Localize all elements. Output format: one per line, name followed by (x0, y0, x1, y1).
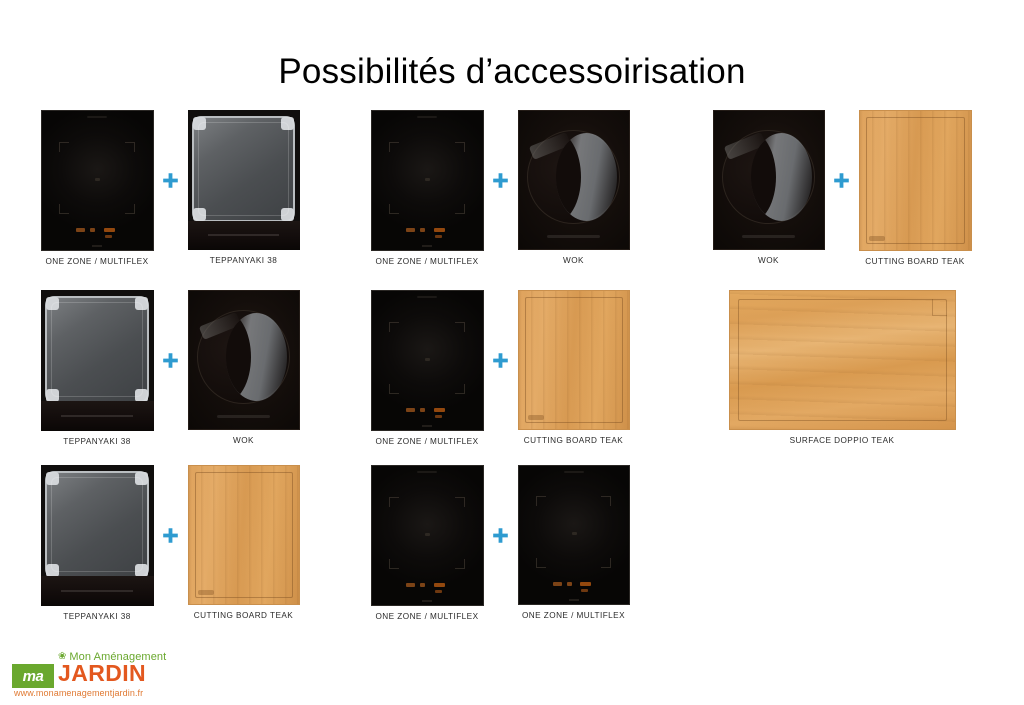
teppanyaki-image (188, 110, 300, 250)
product-item[interactable]: TEPPANYAKI 38 (41, 465, 154, 621)
logo-monogram-mark: ma (12, 664, 54, 688)
wok-image (713, 110, 825, 250)
product-item[interactable]: ONE ZONE / MULTIFLEX (371, 465, 484, 621)
combination-group[interactable]: SURFACE DOPPIO TEAK (660, 290, 1024, 445)
product-label: WOK (758, 256, 779, 265)
logo-monogram-text: ma (23, 669, 44, 684)
product-item[interactable]: WOK (713, 110, 825, 265)
plus-icon (154, 110, 188, 250)
product-item[interactable]: WOK (188, 290, 300, 445)
product-label: ONE ZONE / MULTIFLEX (375, 257, 478, 266)
cooktop-image (371, 465, 484, 606)
product-item[interactable]: ONE ZONE / MULTIFLEX (518, 465, 630, 620)
product-item[interactable]: ONE ZONE / MULTIFLEX (371, 110, 484, 266)
product-label: ONE ZONE / MULTIFLEX (522, 611, 625, 620)
product-item[interactable]: CUTTING BOARD TEAK (188, 465, 300, 620)
product-item[interactable]: TEPPANYAKI 38 (188, 110, 300, 265)
product-label: ONE ZONE / MULTIFLEX (375, 612, 478, 621)
logo-url[interactable]: www.monamenagementjardin.fr (14, 688, 143, 698)
combination-group[interactable]: ONE ZONE / MULTIFLEX ONE ZONE / MULTIFLE… (340, 465, 660, 621)
cooktop-image (518, 465, 630, 605)
cooktop-image (371, 290, 484, 431)
plus-icon (154, 290, 188, 430)
plus-icon (484, 290, 518, 430)
cooktop-image (41, 110, 154, 251)
product-label: CUTTING BOARD TEAK (194, 611, 293, 620)
product-label: ONE ZONE / MULTIFLEX (45, 257, 148, 266)
product-item[interactable]: WOK (518, 110, 630, 265)
page-title: Possibilités d’accessoirisation (0, 52, 1024, 92)
cutting-board-image (859, 110, 972, 251)
teppanyaki-image (41, 290, 154, 431)
teppanyaki-image (41, 465, 154, 606)
combination-group[interactable]: TEPPANYAKI 38 CUTTING BOARD TEAK (0, 465, 340, 621)
combination-group[interactable]: WOK CUTTING BOARD TEAK (660, 110, 1024, 266)
product-label: WOK (233, 436, 254, 445)
cutting-board-image (188, 465, 300, 605)
combination-row: ONE ZONE / MULTIFLEX TEPPANYAKI 38 (0, 110, 1024, 285)
product-label: CUTTING BOARD TEAK (865, 257, 964, 266)
plus-icon (825, 110, 859, 250)
wok-image (188, 290, 300, 430)
accessory-combinations-board: ONE ZONE / MULTIFLEX TEPPANYAKI 38 (0, 110, 1024, 640)
wok-image (518, 110, 630, 250)
combination-group[interactable]: ONE ZONE / MULTIFLEX CUTTING BOARD TEAK (340, 290, 660, 446)
combination-group[interactable]: ONE ZONE / MULTIFLEX WOK (340, 110, 660, 266)
combination-row: TEPPANYAKI 38 WOK (0, 290, 1024, 460)
product-item[interactable]: ONE ZONE / MULTIFLEX (371, 290, 484, 446)
product-label: ONE ZONE / MULTIFLEX (375, 437, 478, 446)
product-label: WOK (563, 256, 584, 265)
product-item[interactable]: CUTTING BOARD TEAK (859, 110, 972, 266)
product-label: TEPPANYAKI 38 (63, 437, 130, 446)
product-item[interactable]: CUTTING BOARD TEAK (518, 290, 630, 445)
product-label: TEPPANYAKI 38 (210, 256, 277, 265)
product-label: CUTTING BOARD TEAK (524, 436, 623, 445)
combination-group[interactable]: TEPPANYAKI 38 WOK (0, 290, 340, 446)
product-item[interactable]: SURFACE DOPPIO TEAK (729, 290, 956, 445)
plus-icon (154, 465, 188, 605)
product-item[interactable]: TEPPANYAKI 38 (41, 290, 154, 446)
plus-icon (484, 110, 518, 250)
brand-logo[interactable]: ma ❀ Mon Aménagement JARDIN www.monamena… (12, 648, 172, 698)
plus-icon (484, 465, 518, 605)
logo-brand-name: JARDIN (58, 662, 146, 685)
product-label: TEPPANYAKI 38 (63, 612, 130, 621)
product-label: SURFACE DOPPIO TEAK (790, 436, 895, 445)
cooktop-image (371, 110, 484, 251)
combination-group[interactable]: ONE ZONE / MULTIFLEX TEPPANYAKI 38 (0, 110, 340, 266)
surface-doppio-image (729, 290, 956, 430)
cutting-board-image (518, 290, 630, 430)
product-item[interactable]: ONE ZONE / MULTIFLEX (41, 110, 154, 266)
combination-row: TEPPANYAKI 38 CUTTING BOARD TEAK (0, 465, 1024, 635)
